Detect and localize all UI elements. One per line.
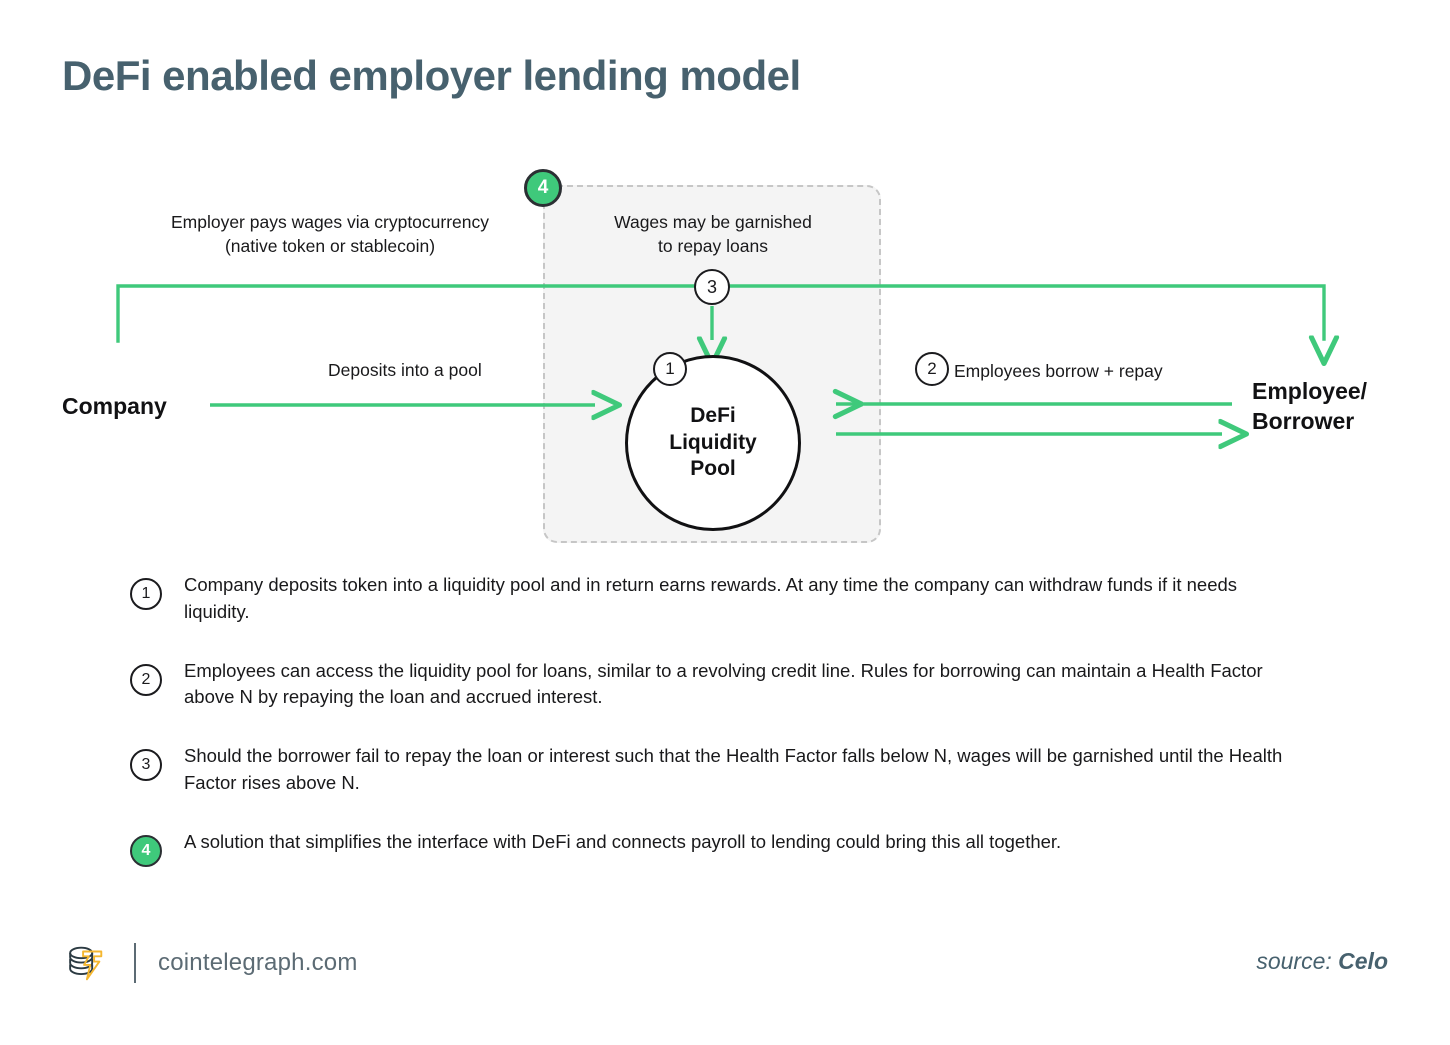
caption-deposits-into-pool: Deposits into a pool (328, 358, 578, 382)
step-badge-4: 4 (524, 169, 562, 207)
legend-badge-2: 2 (130, 664, 162, 696)
legend-text-2: Employees can access the liquidity pool … (184, 658, 1294, 712)
defi-liquidity-pool-node: DeFi Liquidity Pool (625, 355, 801, 531)
footer: cointelegraph.com source: Celo (0, 920, 1450, 1045)
step-badge-2: 2 (915, 352, 949, 386)
caption-employer-pays: Employer pays wages via cryptocurrency (… (105, 210, 555, 258)
actor-label-company: Company (62, 392, 167, 422)
source-prefix: source: (1256, 948, 1338, 974)
legend-badge-3: 3 (130, 749, 162, 781)
legend-list: 1 Company deposits token into a liquidit… (130, 572, 1310, 909)
legend-item: 2 Employees can access the liquidity poo… (130, 658, 1310, 712)
pool-label: DeFi Liquidity Pool (669, 403, 757, 484)
legend-text-3: Should the borrower fail to repay the lo… (184, 743, 1294, 797)
actor-label-employee-borrower: Employee/ Borrower (1252, 377, 1367, 437)
legend-badge-1: 1 (130, 578, 162, 610)
legend-text-1: Company deposits token into a liquidity … (184, 572, 1294, 626)
legend-item: 1 Company deposits token into a liquidit… (130, 572, 1310, 626)
brand-divider (134, 943, 136, 983)
cointelegraph-logo-icon (62, 940, 108, 986)
legend-badge-4: 4 (130, 835, 162, 867)
step-badge-3: 3 (694, 269, 730, 305)
legend-item: 3 Should the borrower fail to repay the … (130, 743, 1310, 797)
infographic-page: DeFi enabled employer lending model (0, 0, 1450, 1045)
caption-employees-borrow-repay: Employees borrow + repay (954, 359, 1234, 383)
step-badge-1: 1 (653, 352, 687, 386)
legend-item: 4 A solution that simplifies the interfa… (130, 829, 1310, 877)
brand-url: cointelegraph.com (158, 949, 358, 977)
brand-block: cointelegraph.com (62, 940, 358, 986)
legend-text-4: A solution that simplifies the interface… (184, 829, 1061, 856)
source-name: Celo (1338, 948, 1388, 974)
caption-wages-garnished: Wages may be garnished to repay loans (563, 210, 863, 258)
source-credit: source: Celo (1256, 948, 1388, 975)
